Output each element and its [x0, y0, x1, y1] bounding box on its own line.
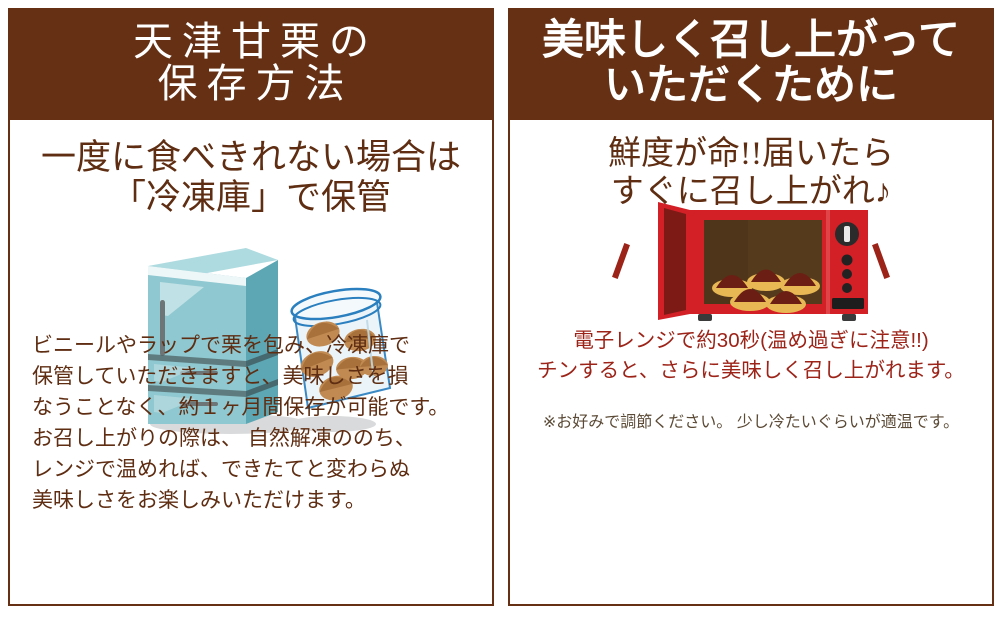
left-body-line-4: お召し上がりの際は、 自然解凍ののち、 [32, 423, 449, 454]
left-subtitle-line-1: 一度に食べきれない場合は [10, 138, 492, 178]
button-1-icon [842, 255, 853, 266]
left-header-line-2: 保存方法 [149, 63, 354, 105]
right-body-line-2: チンすると、さらに美味しく召し上がれます。 [528, 356, 974, 386]
button-2-icon [842, 269, 852, 279]
right-body-text: 電子レンジで約30秒(温め過ぎに注意!!) チンすると、さらに美味しく召し上がれ… [528, 326, 974, 387]
left-body-line-1: ビニールやラップで栗を包み、冷凍庫で [32, 330, 449, 361]
microwave-illustration [628, 198, 888, 328]
microwave-control-panel [826, 210, 868, 314]
right-panel-header: 美味しく召し上がって いただくために [510, 10, 992, 120]
right-panel-body: 鮮度が命!!届いたら すぐに召し上がれ♪ 食べる分だけ レンチン約30秒!! [510, 136, 992, 620]
left-body-line-2: 保管していただきますと、美味しさを損 [32, 361, 449, 392]
left-body-line-5: レンジで温めれば、できたてと変わらぬ [32, 454, 449, 485]
foot-right [842, 314, 856, 321]
right-body-line-1: 電子レンジで約30秒(温め過ぎに注意!!) [528, 326, 974, 356]
left-panel-header: 天津甘栗の 保存方法 [10, 10, 492, 120]
left-body-text: ビニールやラップで栗を包み、冷凍庫で 保管していただきますと、美味しさを損 なう… [32, 330, 449, 516]
microwave-door [658, 202, 690, 320]
button-3-icon [842, 283, 852, 293]
left-panel-body: 一度に食べきれない場合は 「冷凍庫」で保管 [10, 138, 492, 622]
foot-left [698, 314, 712, 321]
left-subtitle-line-2: 「冷凍庫」で保管 [10, 178, 492, 218]
panel-storage-method: 天津甘栗の 保存方法 一度に食べきれない場合は 「冷凍庫」で保管 [8, 8, 494, 606]
panel-serving-suggestion: 美味しく召し上がって いただくために 鮮度が命!!届いたら すぐに召し上がれ♪ … [508, 8, 994, 606]
right-subtitle-line-1: 鮮度が命!!届いたら [510, 136, 992, 174]
display-icon [832, 298, 864, 309]
infographic-root: 天津甘栗の 保存方法 一度に食べきれない場合は 「冷凍庫」で保管 [0, 0, 1000, 621]
right-header-line-2: いただくために [604, 63, 898, 108]
right-header-line-1: 美味しく召し上がって [542, 18, 960, 63]
left-subtitle: 一度に食べきれない場合は 「冷凍庫」で保管 [10, 138, 492, 218]
left-header-line-1: 天津甘栗の [124, 21, 378, 63]
right-note-text: ※お好みで調節ください。 少し冷たいぐらいが適温です。 [528, 408, 974, 432]
left-body-line-6: 美味しさをお楽しみいただけます。 [32, 485, 449, 516]
left-body-line-3: なうことなく、約１ヶ月間保存が可能です。 [32, 392, 449, 423]
